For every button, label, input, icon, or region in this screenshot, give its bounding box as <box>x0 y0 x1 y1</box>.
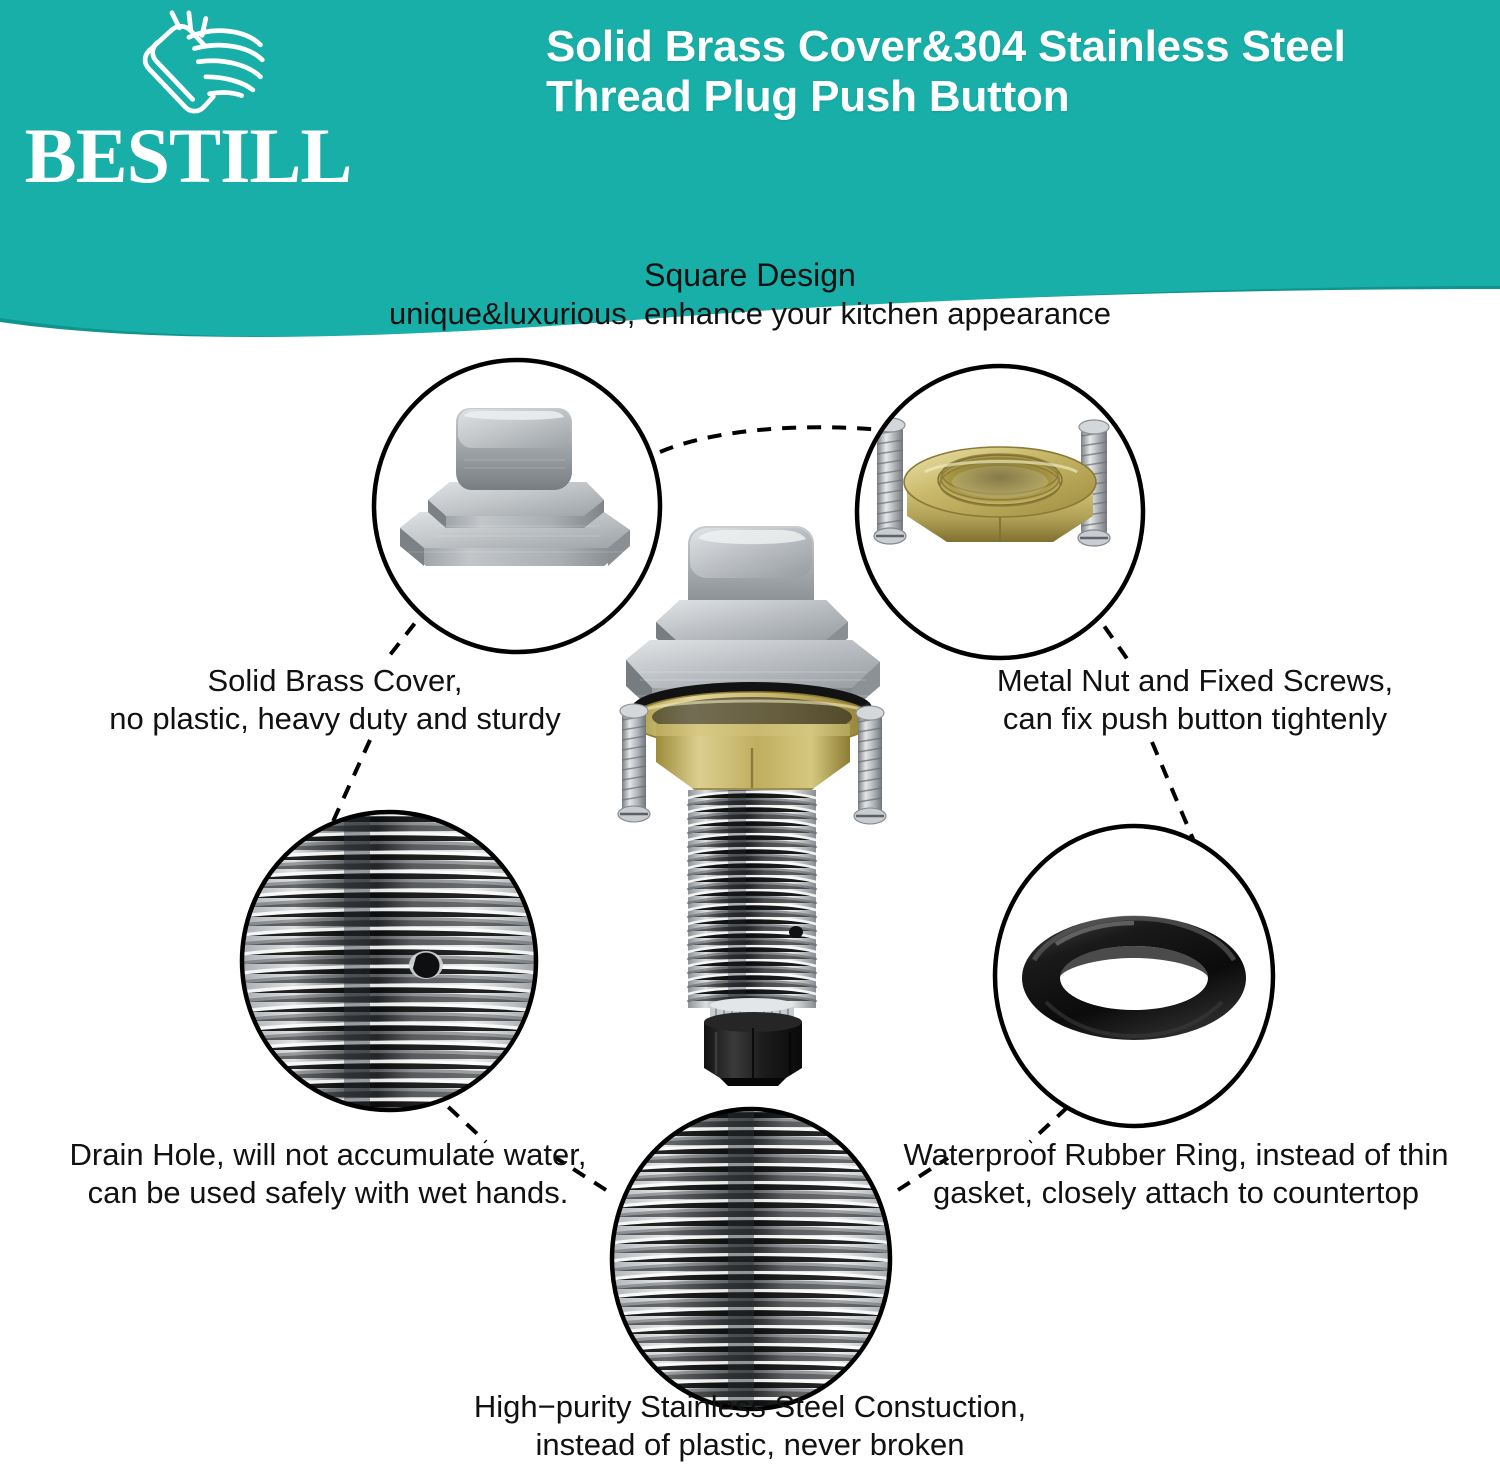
drain-hole <box>789 926 803 938</box>
caption-brass-cover-line-2: no plastic, heavy duty and sturdy <box>30 700 640 738</box>
stainless-threaded-barrel <box>688 790 816 1008</box>
caption-metal-nut: Metal Nut and Fixed Screws, can fix push… <box>890 662 1500 738</box>
callout-mid-right <box>994 826 1276 1128</box>
caption-stainless-steel: High−purity Stainless Steel Constuction,… <box>380 1388 1120 1464</box>
caption-rubber-ring: Waterproof Rubber Ring, instead of thin … <box>852 1136 1500 1212</box>
product-push-button-assembly <box>600 512 900 1092</box>
caption-drain-hole: Drain Hole, will not accumulate water, c… <box>8 1136 648 1212</box>
fixed-screw-right <box>854 706 886 824</box>
caption-square-design-line-2: unique&luxurious, enhance your kitchen a… <box>270 295 1230 333</box>
caption-metal-nut-line-1: Metal Nut and Fixed Screws, <box>890 662 1500 700</box>
black-hex-end-fitting <box>704 1012 802 1086</box>
fixed-screw-left <box>618 704 650 822</box>
caption-brass-cover-line-1: Solid Brass Cover, <box>30 662 640 700</box>
square-push-button <box>456 408 572 490</box>
caption-square-design: Square Design unique&luxurious, enhance … <box>270 256 1230 333</box>
caption-brass-cover: Solid Brass Cover, no plastic, heavy dut… <box>30 662 640 738</box>
infographic-body: Square Design unique&luxurious, enhance … <box>0 0 1500 1449</box>
caption-stainless-steel-line-1: High−purity Stainless Steel Constuction, <box>380 1388 1120 1426</box>
caption-rubber-ring-line-1: Waterproof Rubber Ring, instead of thin <box>852 1136 1500 1174</box>
rubber-o-ring <box>1022 916 1246 1040</box>
brass-hex-nut <box>656 724 850 796</box>
callout-bottom-center <box>610 1108 892 1410</box>
caption-metal-nut-line-2: can fix push button tightenly <box>890 700 1500 738</box>
callout-mid-left <box>240 810 538 1112</box>
caption-rubber-ring-line-2: gasket, closely attach to countertop <box>852 1174 1500 1212</box>
brass-hex-nut <box>904 447 1096 542</box>
caption-drain-hole-line-2: can be used safely with wet hands. <box>8 1174 648 1212</box>
drain-hole <box>409 951 443 979</box>
caption-stainless-steel-line-2: instead of plastic, never broken <box>380 1426 1120 1464</box>
caption-square-design-line-1: Square Design <box>270 256 1230 295</box>
caption-drain-hole-line-1: Drain Hole, will not accumulate water, <box>8 1136 648 1174</box>
